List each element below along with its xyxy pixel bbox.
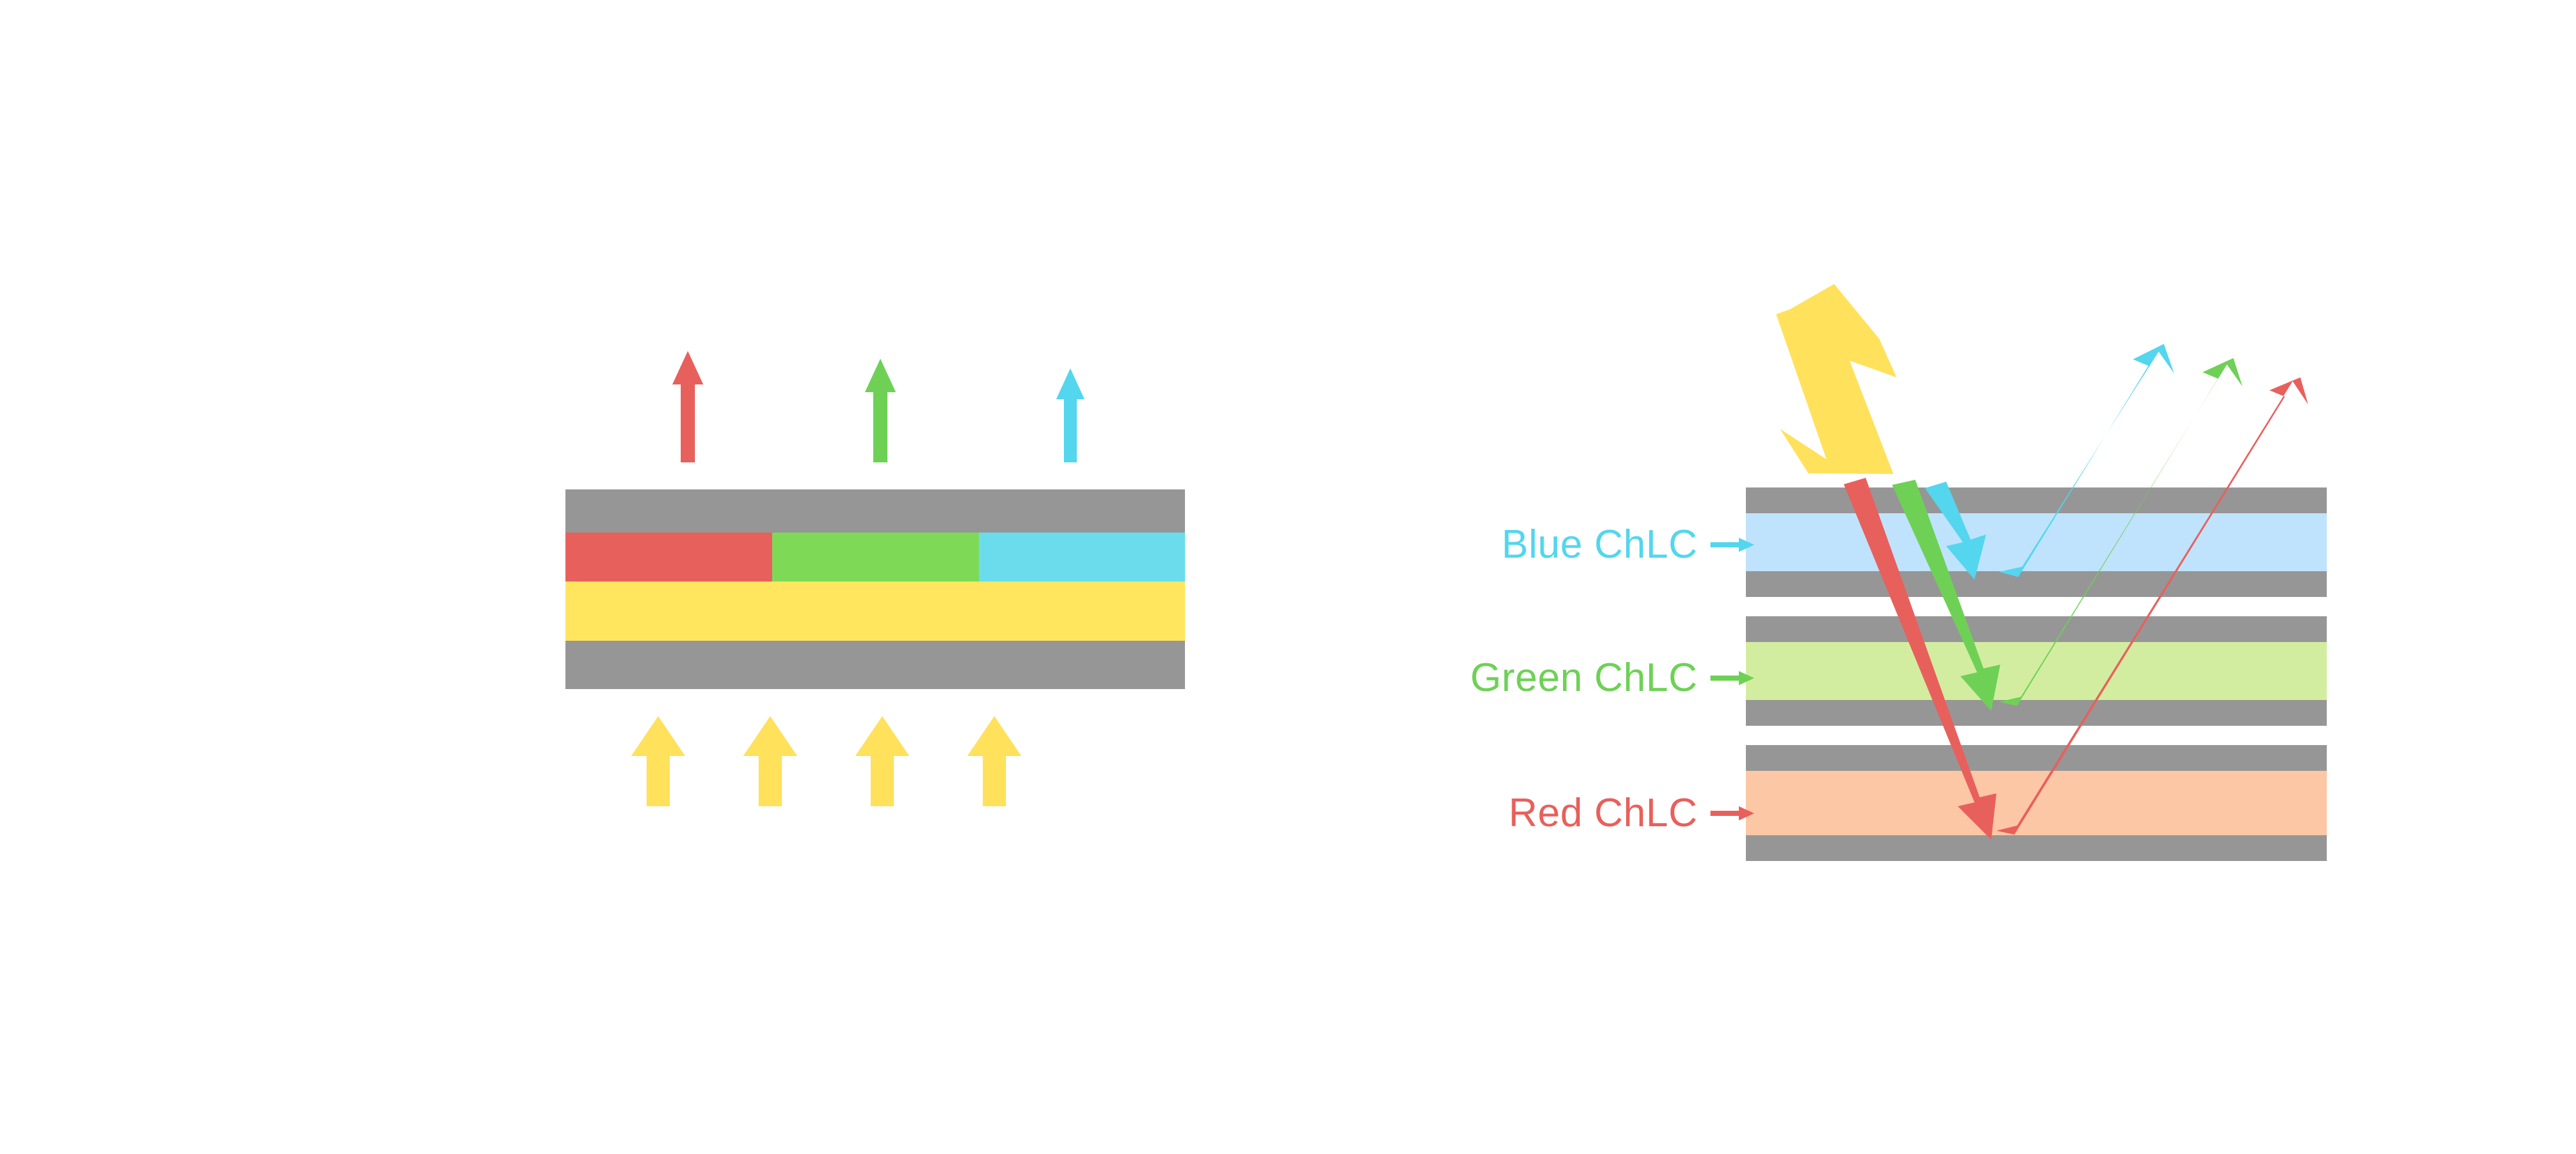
selective-reflection-panel: Blue ChLC Green ChLC Red ChLC [1470, 284, 2327, 861]
red-chlc-layer [1746, 771, 2327, 835]
bottom-electrode [565, 641, 1185, 689]
green-segment [772, 533, 979, 582]
emission-stack [565, 489, 1185, 689]
chlc-display-diagram: Blue ChLC Green ChLC Red ChLC [0, 0, 2576, 1154]
green-chlc-layer [1746, 642, 2327, 700]
blue-group-bottom-electrode [1746, 571, 2327, 597]
backlight-arrow [967, 716, 1021, 806]
red-group-top-electrode [1746, 745, 2327, 771]
green-group-top-electrode [1746, 616, 2327, 642]
green-output-arrow [865, 359, 896, 462]
yellow-backlight-layer [565, 582, 1185, 641]
red-chlc-label: Red ChLC [1509, 791, 1698, 835]
red-segment [565, 533, 772, 582]
blue-chlc-label: Blue ChLC [1502, 522, 1698, 567]
green-chlc-label: Green ChLC [1470, 656, 1698, 700]
blue-group-top-electrode [1746, 487, 2327, 513]
blue-output-arrow [1056, 368, 1084, 462]
backlight-arrow [743, 716, 797, 806]
backlight-arrow [855, 716, 909, 806]
chlc-labels: Blue ChLC Green ChLC Red ChLC [1470, 522, 1754, 835]
blue-segment [979, 533, 1185, 582]
red-output-arrow [672, 351, 703, 462]
blue-chlc-layer [1746, 513, 2327, 571]
white-light-incident-arrow [1776, 284, 1897, 474]
top-electrode [565, 489, 1185, 533]
emission-panel [565, 351, 1185, 806]
backlight-arrow [631, 716, 685, 806]
green-group-bottom-electrode [1746, 700, 2327, 726]
yellow-backlight-arrows [631, 716, 1021, 806]
output-arrow-group [672, 351, 1084, 462]
red-group-bottom-electrode [1746, 835, 2327, 861]
